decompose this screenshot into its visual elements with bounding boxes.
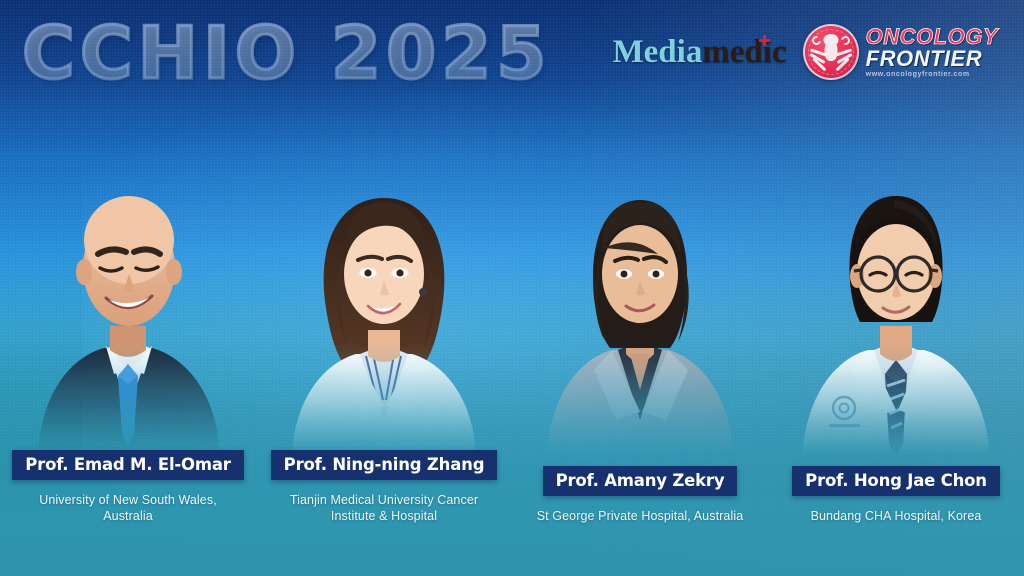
avatar <box>286 158 482 458</box>
oncology-frontier-logo[interactable]: ONCOLOGY FRONTIER www.oncologyfrontier.c… <box>803 24 998 80</box>
portrait-photo <box>286 158 482 458</box>
portrait-photo <box>798 158 994 458</box>
mediamedic-logo[interactable]: Mediamedic <box>613 36 787 69</box>
speaker-name: Prof. Hong Jae Chon <box>792 466 1000 496</box>
portrait-photo <box>30 158 226 458</box>
crab-emblem-icon <box>803 24 859 80</box>
avatar <box>30 158 226 458</box>
event-title: CCHIO 2025 <box>22 17 551 89</box>
mediamedic-word-medic: medic <box>702 34 786 70</box>
speaker-card[interactable]: Prof. Hong Jae Chon Bundang CHA Hospital… <box>768 118 1024 576</box>
speaker-name: Prof. Amany Zekry <box>543 466 738 496</box>
oncology-line: ONCOLOGY <box>866 26 998 48</box>
red-cross-icon <box>759 35 770 46</box>
speaker-affiliation: Bundang CHA Hospital, Korea <box>811 508 982 524</box>
speaker-affiliation: St George Private Hospital, Australia <box>537 508 744 524</box>
speaker-card[interactable]: Prof. Emad M. El-Omar University of New … <box>0 118 256 576</box>
speaker-affiliation: Tianjin Medical University Cancer Instit… <box>277 492 492 524</box>
avatar <box>798 158 994 458</box>
oncology-frontier-wordmark: ONCOLOGY FRONTIER www.oncologyfrontier.c… <box>866 26 998 79</box>
portrait-photo <box>542 158 738 458</box>
avatar <box>542 158 738 458</box>
speaker-name: Prof. Emad M. El-Omar <box>12 450 244 480</box>
oncology-frontier-url: www.oncologyfrontier.com <box>866 71 998 78</box>
banner-stage: CCHIO 2025 Mediamedic ONCOLOGY FRONTIER … <box>0 0 1024 576</box>
speaker-card[interactable]: Prof. Amany Zekry St George Private Hosp… <box>512 118 768 576</box>
frontier-line: FRONTIER <box>866 48 998 70</box>
speaker-name: Prof. Ning-ning Zhang <box>271 450 498 480</box>
speaker-affiliation: University of New South Wales, Australia <box>21 492 236 524</box>
speaker-card[interactable]: Prof. Ning-ning Zhang Tianjin Medical Un… <box>256 118 512 576</box>
speaker-row: Prof. Emad M. El-Omar University of New … <box>0 118 1024 576</box>
mediamedic-word-media: Media <box>613 34 703 70</box>
brand-logo-bar: Mediamedic ONCOLOGY FRONTIER www.oncolog… <box>613 24 998 80</box>
